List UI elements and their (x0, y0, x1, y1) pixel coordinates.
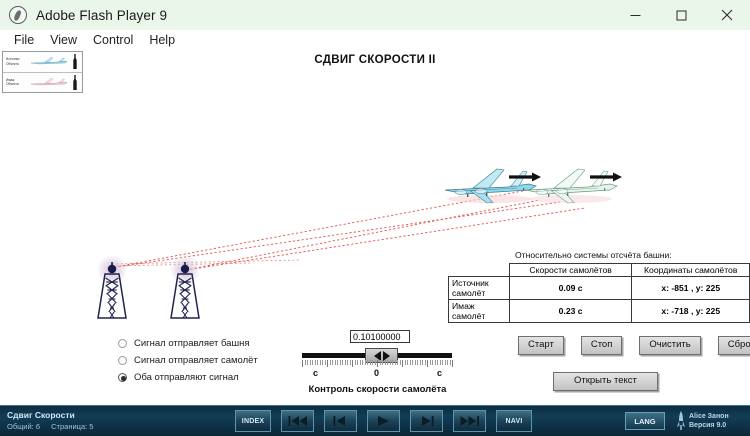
row-coords-image: x: -718 , y: 225 (632, 300, 750, 323)
slider-tick (400, 360, 401, 365)
slider-tick-labels: c 0 c (302, 368, 452, 380)
play-button[interactable] (367, 410, 400, 432)
table-header-blank (449, 264, 510, 277)
arrow-left-icon (374, 351, 381, 361)
radio-option-plane[interactable]: Сигнал отправляет самолёт (118, 352, 258, 368)
slider-tick (330, 360, 331, 365)
slider-tick (390, 360, 391, 365)
slider-ticks (302, 360, 452, 367)
slider-tick (442, 360, 443, 365)
slider-tick (382, 360, 383, 365)
slider-tick (327, 360, 328, 367)
table-row: Источник самолёт 0.09 c x: -851 , y: 225 (449, 277, 750, 300)
navi-button[interactable]: NAVI (496, 410, 532, 432)
slider-tick (372, 360, 373, 365)
index-button[interactable]: INDEX (235, 410, 271, 432)
slider-tick (380, 360, 381, 365)
menu-item-view[interactable]: View (44, 31, 87, 49)
slider-tick (385, 360, 386, 365)
slider-tick (352, 360, 353, 367)
slider-tick (430, 360, 431, 365)
slider-tick (417, 360, 418, 365)
slider-tick (312, 360, 313, 365)
start-button[interactable]: Старт (518, 336, 564, 355)
tower-left-icon (90, 250, 134, 320)
radio-dot-plane[interactable] (118, 356, 127, 365)
tick-label-center: 0 (374, 368, 379, 378)
open-text-button[interactable]: Открыть текст (553, 372, 658, 391)
slider-tick (342, 360, 343, 365)
slider-tick (427, 360, 428, 367)
slider-tick (347, 360, 348, 365)
skip-forward-icon (460, 415, 480, 427)
page-count: Страница: 5 (51, 422, 93, 431)
tower-right (163, 250, 207, 320)
step-back-icon (333, 415, 349, 427)
slider-tick (377, 360, 378, 367)
slider-tick (422, 360, 423, 365)
slider-tick (320, 360, 321, 365)
radio-label-tower: Сигнал отправляет башня (134, 338, 249, 349)
skip-back-icon (288, 415, 308, 427)
slider-tick (367, 360, 368, 365)
maximize-icon[interactable] (658, 0, 704, 30)
prev-button[interactable] (324, 410, 357, 432)
measurements-table: Скорости самолётов Координаты самолётов … (448, 263, 750, 323)
minimize-icon[interactable] (612, 0, 658, 30)
slider-tick (335, 360, 336, 365)
slider-tick (425, 360, 426, 365)
slider-tick (437, 360, 438, 365)
row-label-source: Источник самолёт (449, 277, 510, 300)
brand-text: Alice Занон Версия 9.0 (689, 412, 729, 431)
window-controls (612, 0, 750, 30)
next-button[interactable] (410, 410, 443, 432)
slider-tick (302, 360, 303, 367)
slider-tick (447, 360, 448, 365)
table-caption: Относительно системы отсчёта башни: (515, 250, 672, 260)
close-icon[interactable] (704, 0, 750, 30)
slider-tick (360, 360, 361, 365)
slider-tick (410, 360, 411, 365)
row-speed-source: 0.09 c (509, 277, 632, 300)
slider-tick (450, 360, 451, 365)
table-row: Имаж самолёт 0.23 c x: -718 , y: 225 (449, 300, 750, 323)
brand-line-2: Версия 9.0 (689, 421, 729, 431)
row-coords-source: x: -851 , y: 225 (632, 277, 750, 300)
slider-tick (317, 360, 318, 365)
slider-tick (395, 360, 396, 365)
slider-tick (397, 360, 398, 365)
flash-player-icon (9, 6, 27, 24)
table-header-coords: Координаты самолётов (632, 264, 750, 277)
radio-dot-tower[interactable] (118, 339, 127, 348)
flash-stage: Источник Объекта Имаж Объекта (0, 50, 750, 405)
slider-tick (345, 360, 346, 365)
menu-bar: File View Control Help (0, 30, 750, 50)
total-count: Общий: 6 (7, 422, 40, 431)
slider-tick (310, 360, 311, 365)
tick-label-right: c (437, 368, 442, 378)
slider-tick (420, 360, 421, 365)
last-button[interactable] (453, 410, 486, 432)
slider-caption: Контроль скорости самолёта (300, 384, 455, 395)
slider-tick (375, 360, 376, 365)
slider-tick (325, 360, 326, 365)
table-header-speeds: Скорости самолётов (509, 264, 632, 277)
slider-tick (445, 360, 446, 365)
step-forward-icon (419, 415, 435, 427)
arrow-right-icon (383, 351, 390, 361)
tick-label-left: c (313, 368, 318, 378)
radio-option-both[interactable]: Оба отправляют сигнал (118, 369, 258, 385)
rocket-icon (676, 411, 686, 431)
navigation-controls: INDEX (235, 410, 532, 432)
window-titlebar: Adobe Flash Player 9 (0, 0, 750, 30)
slider-tick (357, 360, 358, 365)
slider-tick (402, 360, 403, 367)
reset-button[interactable]: Сброс (718, 336, 750, 355)
status-bar: Сдвиг Скорости Общий: 6 Страница: 5 INDE… (0, 405, 750, 436)
slider-tick (415, 360, 416, 365)
tower-left (90, 250, 134, 320)
first-button[interactable] (281, 410, 314, 432)
slider-tick (322, 360, 323, 365)
signal-mode-radio-group: Сигнал отправляет башня Сигнал отправляе… (118, 335, 258, 386)
slider-tick (435, 360, 436, 365)
menu-item-file[interactable]: File (8, 31, 44, 49)
image-plane (518, 163, 623, 208)
slider-tick (337, 360, 338, 365)
lesson-progress: Общий: 6 Страница: 5 (7, 422, 102, 431)
lang-button[interactable]: LANG (625, 412, 665, 430)
slider-tick (405, 360, 406, 365)
slider-tick (355, 360, 356, 365)
clear-button[interactable]: Очистить (639, 336, 700, 355)
slider-tick (432, 360, 433, 365)
radio-label-plane: Сигнал отправляет самолёт (134, 355, 258, 366)
slider-tick (362, 360, 363, 365)
speed-value-input[interactable]: 0.10100000 (350, 330, 410, 343)
radio-label-both: Оба отправляют сигнал (134, 372, 239, 383)
radio-option-tower[interactable]: Сигнал отправляет башня (118, 335, 258, 351)
slider-tick (387, 360, 388, 365)
open-text-button-wrap: Открыть текст (553, 370, 658, 391)
slider-tick (365, 360, 366, 365)
tower-right-icon (163, 250, 207, 320)
slider-tick (370, 360, 371, 365)
slider-tick (452, 360, 453, 367)
slider-tick (332, 360, 333, 365)
slider-tick (350, 360, 351, 365)
slider-tick (412, 360, 413, 365)
brand-line-1: Alice Занон (689, 412, 729, 422)
brand-block: Alice Занон Версия 9.0 (676, 411, 729, 431)
stop-button[interactable]: Стоп (581, 336, 623, 355)
row-label-image: Имаж самолёт (449, 300, 510, 323)
action-button-row: Старт Стоп Очистить Сброс (518, 336, 750, 355)
menu-item-control[interactable]: Control (87, 31, 143, 49)
lesson-title: Сдвиг Скорости (7, 410, 75, 420)
slider-tick (440, 360, 441, 365)
slider-tick (340, 360, 341, 365)
window-title: Adobe Flash Player 9 (36, 8, 167, 23)
slider-tick (315, 360, 316, 365)
radio-dot-both[interactable] (118, 373, 127, 382)
slider-tick (407, 360, 408, 365)
menu-item-help[interactable]: Help (143, 31, 185, 49)
slider-tick (392, 360, 393, 365)
slider-tick (307, 360, 308, 365)
play-icon (377, 415, 391, 427)
row-speed-image: 0.23 c (509, 300, 632, 323)
slider-tick (305, 360, 306, 365)
